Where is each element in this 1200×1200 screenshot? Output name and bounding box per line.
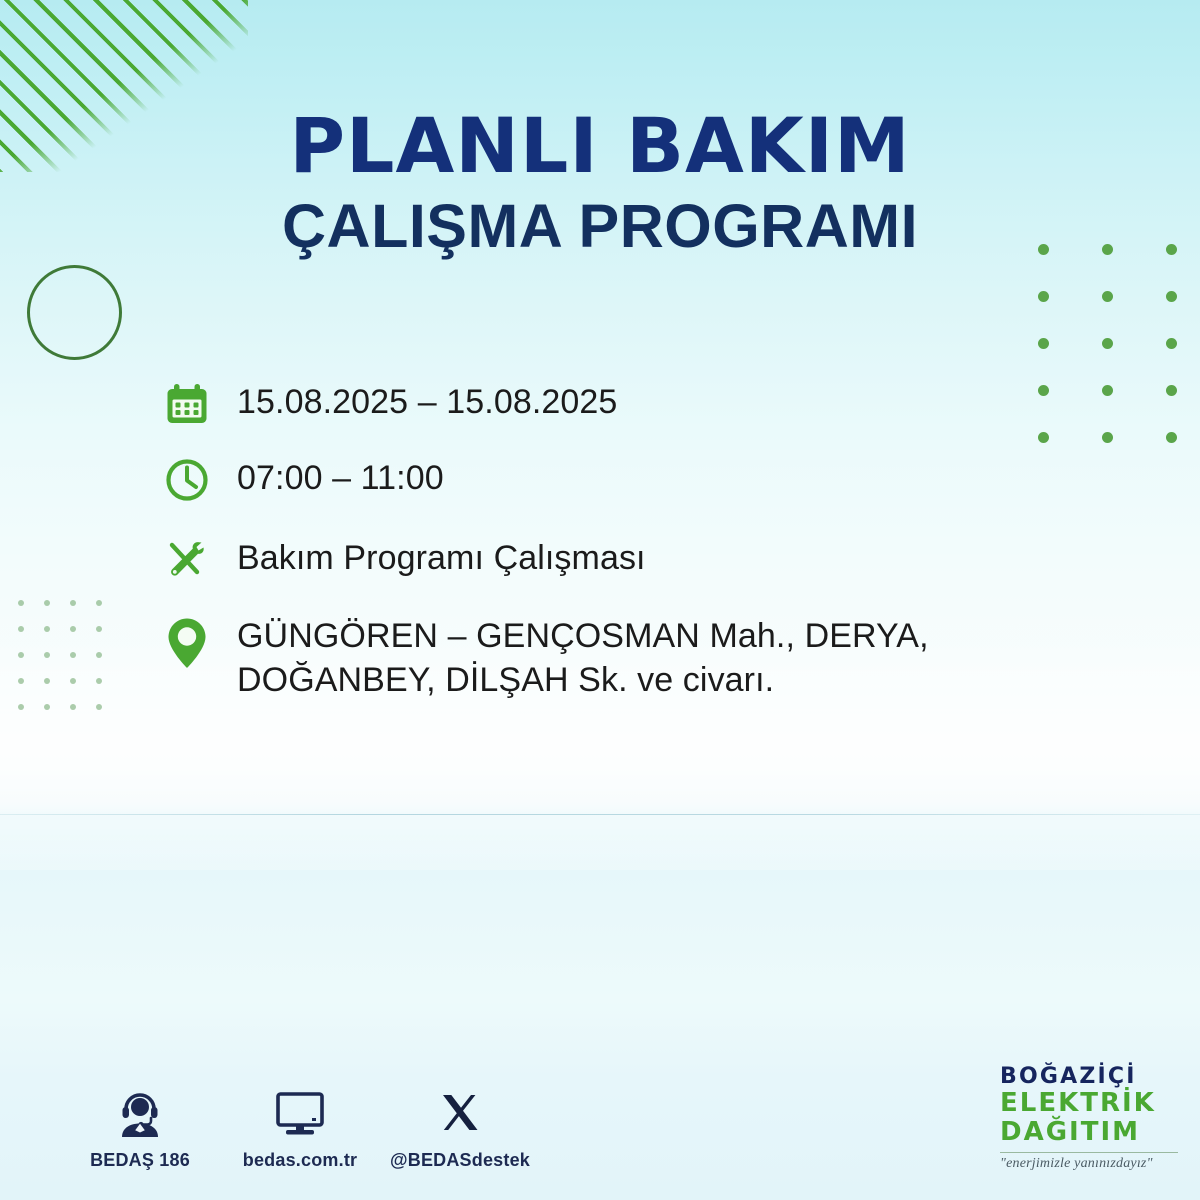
info-value-work: Bakım Programı Çalışması: [237, 534, 646, 580]
decoration-dot: [70, 678, 76, 684]
contact-website[interactable]: bedas.com.tr: [220, 1082, 380, 1171]
decoration-dot: [1102, 338, 1113, 349]
info-value-location: GÜNGÖREN – GENÇOSMAN Mah., DERYA, DOĞANB…: [237, 612, 929, 702]
contact-label-x-account: @BEDASdestek: [390, 1150, 530, 1171]
location-line-1: GÜNGÖREN – GENÇOSMAN Mah., DERYA,: [237, 614, 929, 658]
calendar-icon: [163, 378, 237, 428]
decoration-dot: [1166, 385, 1177, 396]
clock-icon: [163, 454, 237, 504]
logo-tagline: "enerjimizle yanınızdayız": [1000, 1156, 1190, 1172]
contact-x-account[interactable]: @BEDASdestek: [380, 1082, 540, 1171]
decoration-dot: [44, 678, 50, 684]
footer-contacts: BEDAŞ 186 bedas.com.tr @BEDASdestek: [60, 1082, 540, 1171]
logo-line-elektrik: ELEKTRİK: [1000, 1089, 1190, 1118]
tools-icon: [163, 534, 237, 584]
info-row-work: Bakım Programı Çalışması: [163, 534, 1063, 584]
dot-grid-left-decoration: [18, 600, 122, 730]
info-value-date: 15.08.2025 – 15.08.2025: [237, 378, 617, 424]
decoration-dot: [96, 678, 102, 684]
contact-label-website: bedas.com.tr: [243, 1150, 357, 1171]
decoration-dot: [44, 600, 50, 606]
logo-line-bogazici: BOĞAZİÇİ: [1000, 1064, 1190, 1089]
decoration-dot: [70, 704, 76, 710]
contact-call-center[interactable]: BEDAŞ 186: [60, 1082, 220, 1171]
info-row-location: GÜNGÖREN – GENÇOSMAN Mah., DERYA, DOĞANB…: [163, 612, 1063, 702]
decoration-dot: [18, 626, 24, 632]
decoration-dot: [18, 678, 24, 684]
decoration-dot: [18, 652, 24, 658]
decoration-dot: [1102, 432, 1113, 443]
decoration-dot: [96, 652, 102, 658]
decoration-dot: [1166, 291, 1177, 302]
info-row-time: 07:00 – 11:00: [163, 454, 1063, 504]
circle-outline-decoration: [27, 265, 122, 360]
monitor-icon: [272, 1082, 328, 1144]
page-subtitle: ÇALIŞMA PROGRAMI: [0, 194, 1200, 258]
decoration-dot: [70, 600, 76, 606]
page-header: PLANLI BAKIM ÇALIŞMA PROGRAMI: [0, 108, 1200, 258]
decoration-dot: [70, 626, 76, 632]
bedas-logo: BOĞAZİÇİ ELEKTRİK DAĞITIM "enerjimizle y…: [1000, 1064, 1190, 1172]
headset-operator-icon: [112, 1082, 168, 1144]
contact-label-call-center: BEDAŞ 186: [90, 1150, 190, 1171]
decoration-dot: [1166, 432, 1177, 443]
decoration-dot: [1038, 338, 1049, 349]
info-row-date: 15.08.2025 – 15.08.2025: [163, 378, 1063, 428]
decoration-dot: [70, 652, 76, 658]
decoration-dot: [44, 652, 50, 658]
decoration-dot: [96, 626, 102, 632]
maintenance-info-list: 15.08.2025 – 15.08.2025 07:00 – 11:00 Ba…: [163, 378, 1063, 724]
decoration-dot: [44, 626, 50, 632]
logo-line-dagitim: DAĞITIM: [1000, 1118, 1190, 1147]
x-twitter-icon: [432, 1082, 488, 1144]
decoration-dot: [18, 600, 24, 606]
decoration-dot: [1038, 291, 1049, 302]
decoration-dot: [96, 704, 102, 710]
decoration-dot: [18, 704, 24, 710]
map-pin-icon: [163, 612, 237, 670]
decoration-dot: [1102, 385, 1113, 396]
decoration-dot: [44, 704, 50, 710]
page-title: PLANLI BAKIM: [0, 108, 1200, 184]
decoration-dot: [96, 600, 102, 606]
background-divider: [0, 814, 1200, 815]
decoration-dot: [1102, 291, 1113, 302]
location-line-2: DOĞANBEY, DİLŞAH Sk. ve civarı.: [237, 658, 929, 702]
decoration-dot: [1166, 338, 1177, 349]
logo-divider: [1000, 1152, 1178, 1153]
info-value-time: 07:00 – 11:00: [237, 454, 444, 500]
